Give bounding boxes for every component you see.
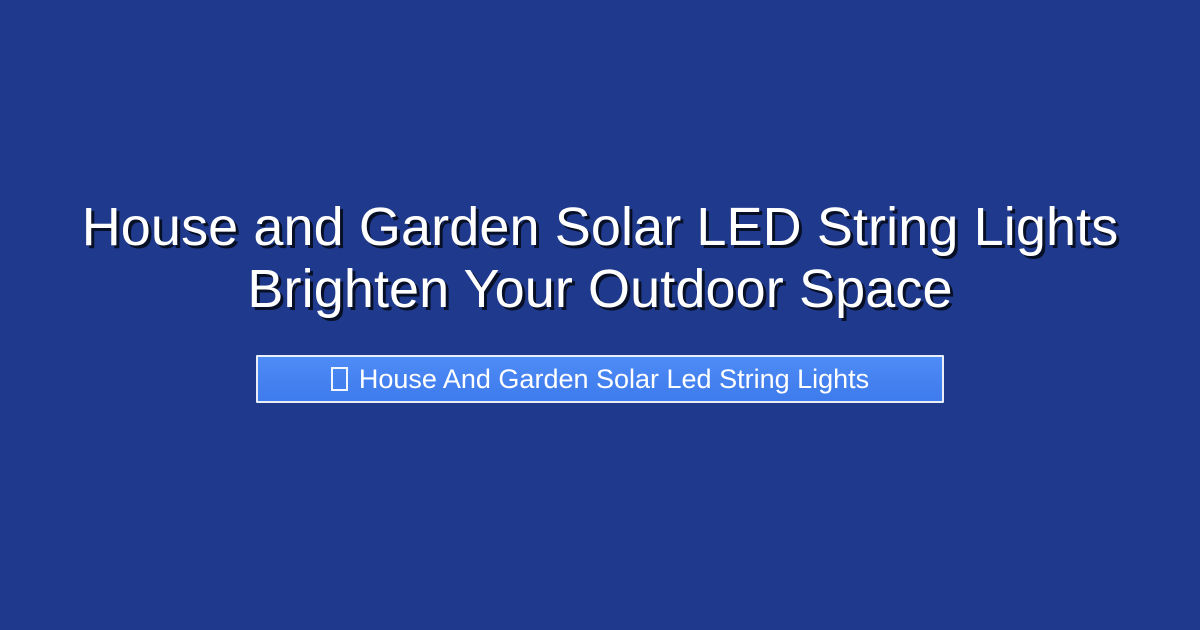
cta-button-label: House And Garden Solar Led String Lights xyxy=(359,357,869,401)
page-title: House and Garden Solar LED String Lights… xyxy=(0,196,1200,320)
cta-container: House And Garden Solar Led String Lights xyxy=(0,355,1200,403)
cta-button-house-and-garden-solar-led-string-lights[interactable]: House And Garden Solar Led String Lights xyxy=(256,355,944,403)
social-share-card: House and Garden Solar LED String Lights… xyxy=(0,0,1200,630)
missing-glyph-box-icon xyxy=(331,367,348,391)
